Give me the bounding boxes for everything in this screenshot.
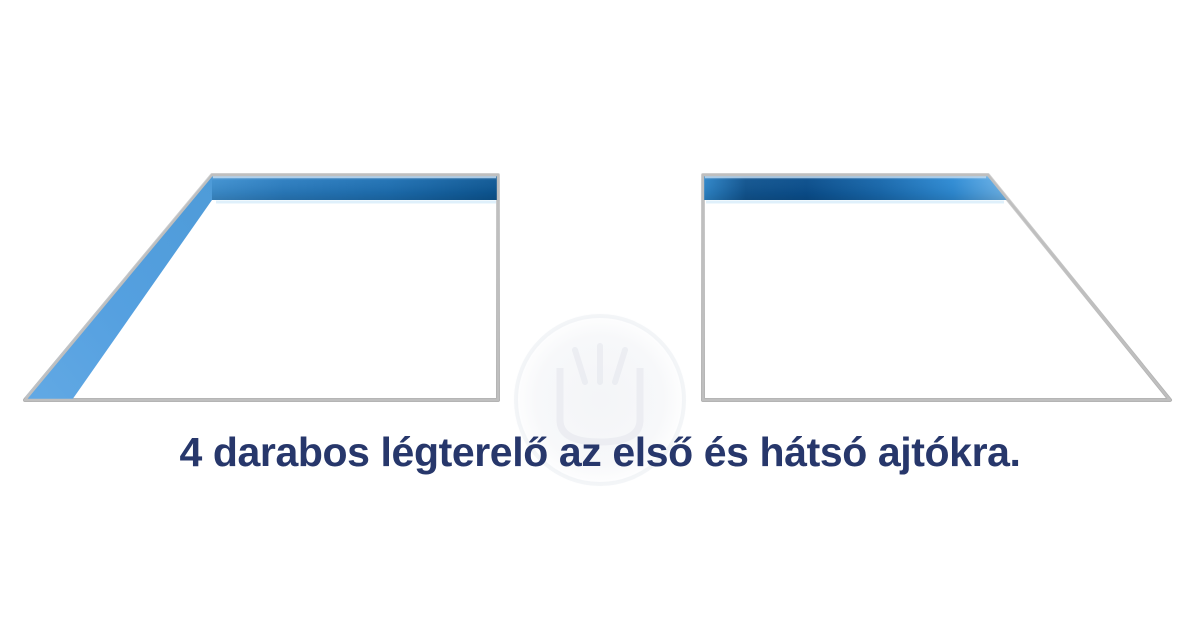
product-figure: 4 darabos légterelő az első és hátsó ajt… <box>0 0 1200 630</box>
front-door-deflector <box>25 175 498 400</box>
rear-door-deflector <box>703 175 1170 400</box>
rear-deflector-outline <box>703 175 1170 400</box>
deflector-diagram <box>0 0 1200 630</box>
caption-text: 4 darabos légterelő az első és hátsó ajt… <box>0 428 1200 476</box>
front-deflector-outline <box>25 175 498 400</box>
